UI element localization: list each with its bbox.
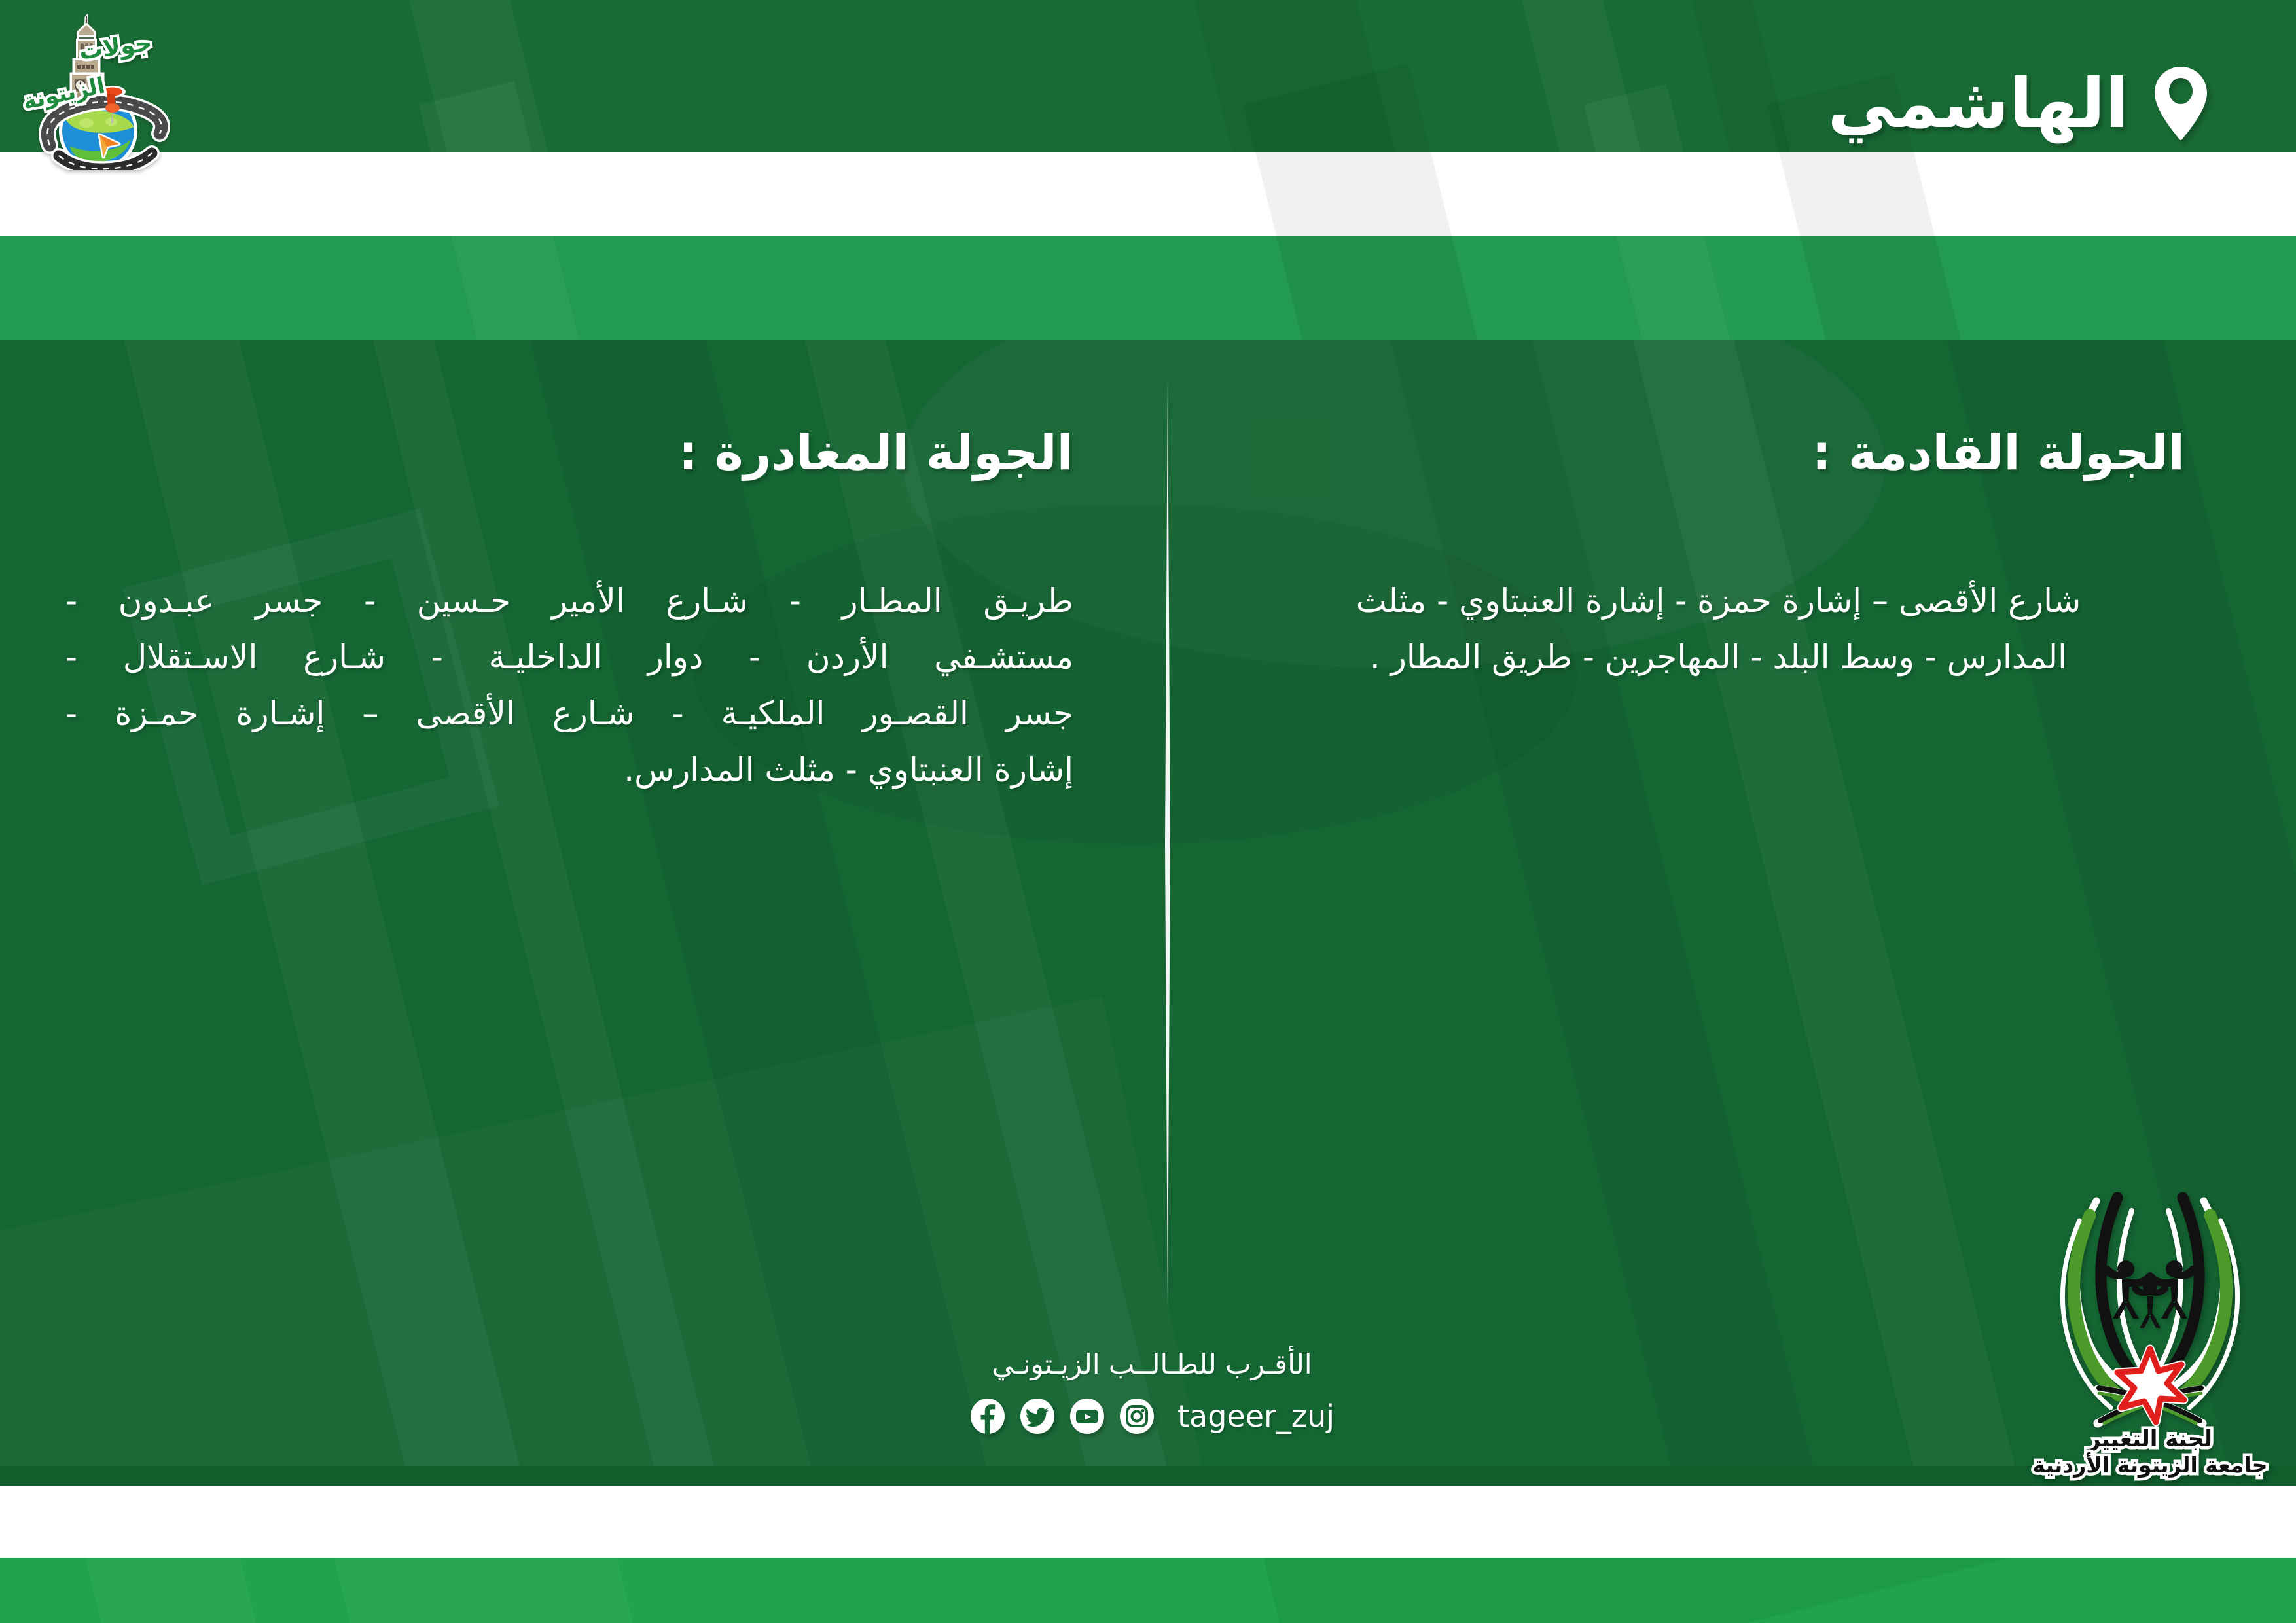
emblem-line-1: لجنة التغيير bbox=[2087, 1426, 2212, 1452]
route-line: مستشـفي الأردن - دوار الداخليـة - شـارع … bbox=[65, 629, 1073, 685]
departing-trip-heading: الجولة المغادرة : bbox=[65, 425, 1073, 481]
page-title-row: الهاشمي bbox=[1827, 51, 2211, 156]
footer: الأقـرب للطـالــب الزيـتونـي tagee bbox=[903, 1348, 1401, 1435]
university-committee-emblem: لجنة التغيير جامعة الزيتونة الأردنية bbox=[2019, 1175, 2281, 1482]
column-divider bbox=[1162, 380, 1174, 1309]
emblem-line-2: جامعة الزيتونة الأردنية bbox=[2032, 1452, 2267, 1478]
next-trip-heading: الجولة القادمة : bbox=[1252, 425, 2185, 481]
poster-root: جولات الزيتونة الهاشمي الجولة القادمة : … bbox=[0, 0, 2296, 1623]
location-pin-icon bbox=[2151, 65, 2211, 142]
next-trip-route: شارع الأقصى – إشارة حمزة - إشارة العنبتا… bbox=[1252, 573, 2185, 685]
social-handle: tageer_zuj bbox=[1177, 1399, 1335, 1434]
route-line: إشارة العنبتاوي - مثلث المدارس. bbox=[65, 741, 1073, 798]
change-committee-emblem: لجنة التغيير جامعة الزيتونة الأردنية bbox=[2019, 1175, 2281, 1482]
brand-logo[interactable]: جولات الزيتونة bbox=[18, 5, 188, 170]
route-line: شارع الأقصى – إشارة حمزة - إشارة العنبتا… bbox=[1252, 573, 2185, 629]
header-green-band bbox=[0, 236, 2296, 340]
column-next-trip: الجولة القادمة : شارع الأقصى – إشارة حمز… bbox=[1213, 340, 2296, 685]
route-line: جسر القصـور الملكيـة - شـارع الأقصى – إش… bbox=[65, 685, 1073, 741]
footer-dark-edge bbox=[0, 1466, 2296, 1486]
footer-tagline: الأقـرب للطـالــب الزيـتونـي bbox=[903, 1348, 1401, 1381]
column-departing-trip: الجولة المغادرة : طريـق المطـار - شـارع … bbox=[0, 340, 1113, 798]
departing-trip-route: طريـق المطـار - شـارع الأمير حـسين - جسر… bbox=[65, 573, 1073, 798]
route-line: المدارس - وسط البلد - المهاجرين - طريق ا… bbox=[1252, 629, 2185, 685]
header-white-stripe bbox=[0, 152, 2296, 236]
route-line: طريـق المطـار - شـارع الأمير حـسين - جسر… bbox=[65, 573, 1073, 629]
content-area: الجولة القادمة : شارع الأقصى – إشارة حمز… bbox=[0, 340, 2296, 1466]
footer-white-stripe bbox=[0, 1486, 2296, 1558]
social-links: tageer_zuj bbox=[903, 1398, 1401, 1435]
youtube-icon[interactable] bbox=[1069, 1398, 1105, 1435]
page-title: الهاشمي bbox=[1827, 69, 2128, 137]
facebook-icon[interactable] bbox=[969, 1398, 1006, 1435]
clock-tower-globe-pin-logo: جولات الزيتونة bbox=[18, 5, 188, 170]
footer-green-band bbox=[0, 1558, 2296, 1623]
twitter-icon[interactable] bbox=[1019, 1398, 1056, 1435]
instagram-icon[interactable] bbox=[1119, 1398, 1155, 1435]
